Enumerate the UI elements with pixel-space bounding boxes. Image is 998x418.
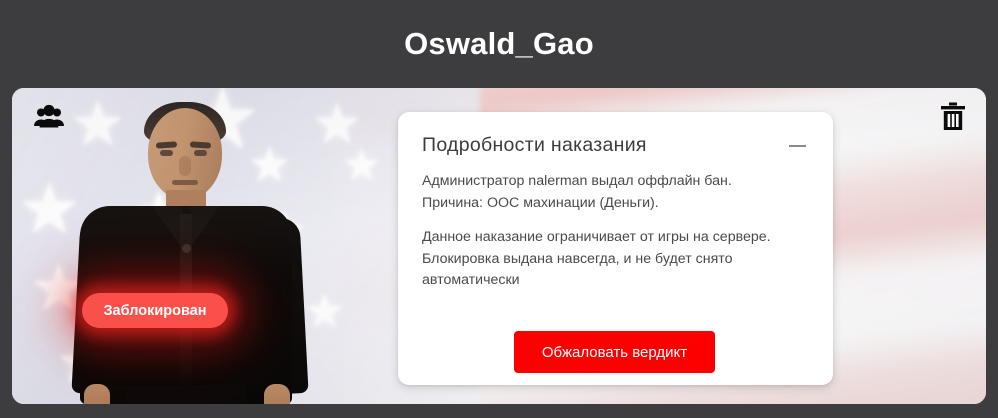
card-title: Подробности наказания	[422, 134, 647, 157]
punishment-details-card: Подробности наказания Администратор nale…	[398, 112, 833, 385]
avatar-jacket-button	[182, 244, 191, 253]
users-icon[interactable]	[32, 104, 66, 130]
punishment-reason-text: Администратор nalerman выдал оффлайн бан…	[422, 171, 782, 214]
appeal-verdict-button[interactable]: Обжаловать вердикт	[514, 331, 715, 373]
profile-panel: ★ ★ ★ ★ ★ ★ ★ ★ ★ ★ ★ ★ ★ З	[12, 88, 986, 404]
avatar-eye-left	[160, 150, 173, 156]
punishment-description-text: Данное наказание ограничивает от игры на…	[422, 227, 782, 292]
minimize-icon[interactable]	[789, 145, 806, 147]
avatar-hand-right	[264, 384, 290, 404]
card-header: Подробности наказания	[422, 134, 809, 157]
avatar-eye-right	[194, 150, 207, 156]
trash-icon[interactable]	[940, 102, 966, 132]
avatar-hand-left	[84, 384, 110, 404]
page-header: Oswald_Gao	[0, 0, 998, 88]
page-title: Oswald_Gao	[404, 26, 594, 62]
avatar-head	[148, 108, 222, 200]
avatar-mouth	[172, 180, 198, 185]
avatar-nose	[179, 156, 191, 176]
status-badge-blocked[interactable]: Заблокирован	[82, 293, 228, 328]
avatar	[64, 98, 324, 404]
avatar-legs	[126, 386, 246, 404]
